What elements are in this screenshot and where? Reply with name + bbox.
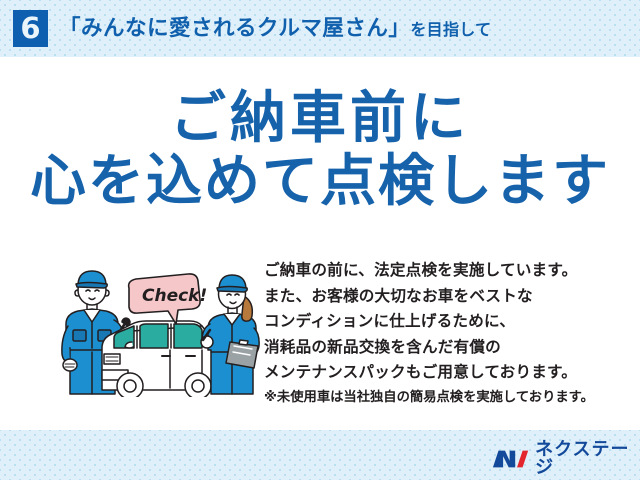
- body-note: ※未使用車は当社独自の簡易点検を実施しております。: [264, 386, 634, 410]
- body-line-4: 消耗品の新品交換を含んだ有償の: [264, 335, 634, 361]
- body-line-3: コンディションに仕上げるために、: [264, 309, 634, 335]
- headline-line-1: ご納車前に: [0, 88, 640, 150]
- body-line-5: メンテナンスパックもご用意しております。: [264, 360, 634, 386]
- section-number-badge: 6: [13, 10, 48, 47]
- brand-logo: ネクステージ: [492, 446, 640, 472]
- body-line-1: ご納車の前に、法定点検を実施しています。: [264, 258, 634, 284]
- check-speech-bubble: Check!: [129, 274, 208, 324]
- header-title: 「みんなに愛されるクルマ屋さん」を目指して: [59, 18, 491, 40]
- headline-line-2: 心を込めて点検します: [0, 150, 640, 214]
- body-line-2: また、お客様の大切なお車をベストな: [264, 284, 634, 310]
- promo-slide: 6 「みんなに愛されるクルマ屋さん」を目指して ご納車前に 心を込めて点検します…: [0, 0, 640, 480]
- body-copy: ご納車の前に、法定点検を実施しています。 また、お客様の大切なお車をベストな コ…: [264, 258, 634, 410]
- header: 6 「みんなに愛されるクルマ屋さん」を目指して: [0, 0, 640, 57]
- header-title-suffix: を目指して: [410, 22, 491, 39]
- mechanics-illustration: Check!: [58, 262, 268, 397]
- nextage-n-mark-icon: [492, 448, 529, 470]
- page-title: ご納車前に 心を込めて点検します: [0, 88, 640, 214]
- header-title-quoted: 「みんなに愛されるクルマ屋さん」: [59, 16, 410, 40]
- speech-bubble-label: Check!: [142, 286, 207, 306]
- brand-name: ネクステージ: [535, 441, 640, 477]
- van-illustration: [102, 321, 214, 397]
